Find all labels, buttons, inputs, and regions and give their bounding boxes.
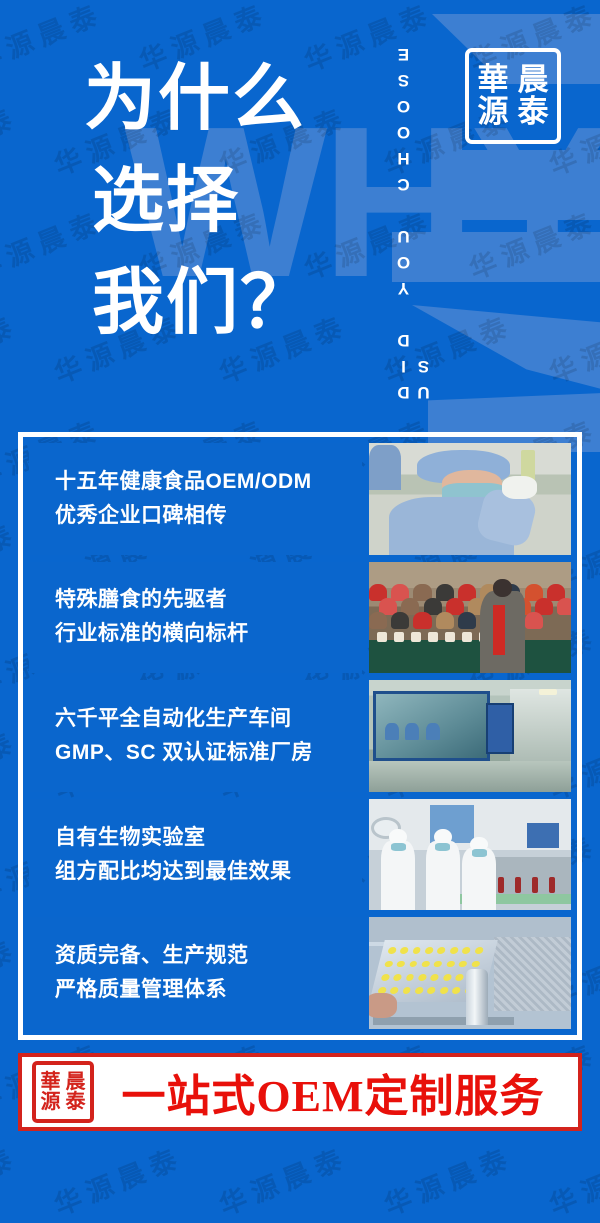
list-item: 特殊膳食的先驱者 行业标准的横向标杆 (29, 562, 571, 674)
footer-seal-char-3: 晨 (66, 1072, 86, 1092)
footer-slogan: 一站式OEM定制服务 (94, 1060, 568, 1124)
feature-photo-1 (369, 443, 571, 555)
list-item: 资质完备、生产规范 严格质量管理体系 (29, 917, 571, 1029)
decorative-shape-2 (448, 150, 600, 220)
vertical-subtitle: DID YOU CHOOSE US (394, 10, 434, 402)
footer-seal-column-right: 華 源 (38, 1067, 63, 1117)
headline-line-1: 为什么 (84, 48, 384, 150)
feature-text-3: 六千平全自动化生产车间 GMP、SC 双认证标准厂房 (29, 680, 362, 792)
feature-2-line-2: 行业标准的横向标杆 (55, 617, 362, 651)
seal-column-right: 華 源 (473, 56, 513, 136)
feature-5-line-2: 严格质量管理体系 (55, 973, 362, 1007)
seal-char-3: 晨 (518, 64, 549, 96)
feature-text-5: 资质完备、生产规范 严格质量管理体系 (29, 917, 362, 1029)
seal-char-1: 華 (478, 64, 509, 96)
seal-column-left: 晨 泰 (513, 56, 553, 136)
feature-3-line-1: 六千平全自动化生产车间 (55, 702, 362, 736)
list-item: 六千平全自动化生产车间 GMP、SC 双认证标准厂房 (29, 680, 571, 792)
footer-banner: 華 源 晨 泰 一站式OEM定制服务 (18, 1053, 582, 1131)
feature-1-line-2: 优秀企业口碑相传 (55, 499, 362, 533)
footer-seal-char-1: 華 (41, 1072, 61, 1092)
footer-seal-char-4: 泰 (66, 1092, 86, 1112)
feature-4-line-2: 组方配比均达到最佳效果 (55, 855, 362, 889)
feature-text-4: 自有生物实验室 组方配比均达到最佳效果 (29, 799, 362, 911)
feature-photo-5 (369, 917, 571, 1029)
feature-4-line-1: 自有生物实验室 (55, 821, 362, 855)
feature-photo-4 (369, 799, 571, 911)
feature-text-1: 十五年健康食品OEM/ODM 优秀企业口碑相传 (29, 443, 362, 555)
feature-list: 十五年健康食品OEM/ODM 优秀企业口碑相传 特殊膳食的先驱者 行业标准的横向… (18, 432, 582, 1040)
feature-photo-3 (369, 680, 571, 792)
seal-char-4: 泰 (518, 96, 549, 128)
headline-line-2: 选择 (92, 150, 384, 252)
brand-seal-logo: 華 源 晨 泰 (465, 48, 561, 144)
feature-1-line-1: 十五年健康食品OEM/ODM (55, 465, 362, 499)
footer-seal-column-left: 晨 泰 (63, 1067, 88, 1117)
feature-5-line-1: 资质完备、生产规范 (55, 939, 362, 973)
feature-3-line-2: GMP、SC 双认证标准厂房 (55, 736, 362, 770)
feature-text-2: 特殊膳食的先驱者 行业标准的横向标杆 (29, 562, 362, 674)
feature-2-line-1: 特殊膳食的先驱者 (55, 583, 362, 617)
footer-seal-char-2: 源 (41, 1092, 61, 1112)
feature-photo-2 (369, 562, 571, 674)
page-title: 为什么 选择 我们？ (84, 48, 384, 355)
list-item: 十五年健康食品OEM/ODM 优秀企业口碑相传 (29, 443, 571, 555)
seal-char-2: 源 (478, 96, 509, 128)
headline-line-3: 我们？ (92, 252, 384, 354)
list-item: 自有生物实验室 组方配比均达到最佳效果 (29, 799, 571, 911)
footer-seal-logo: 華 源 晨 泰 (32, 1061, 94, 1123)
